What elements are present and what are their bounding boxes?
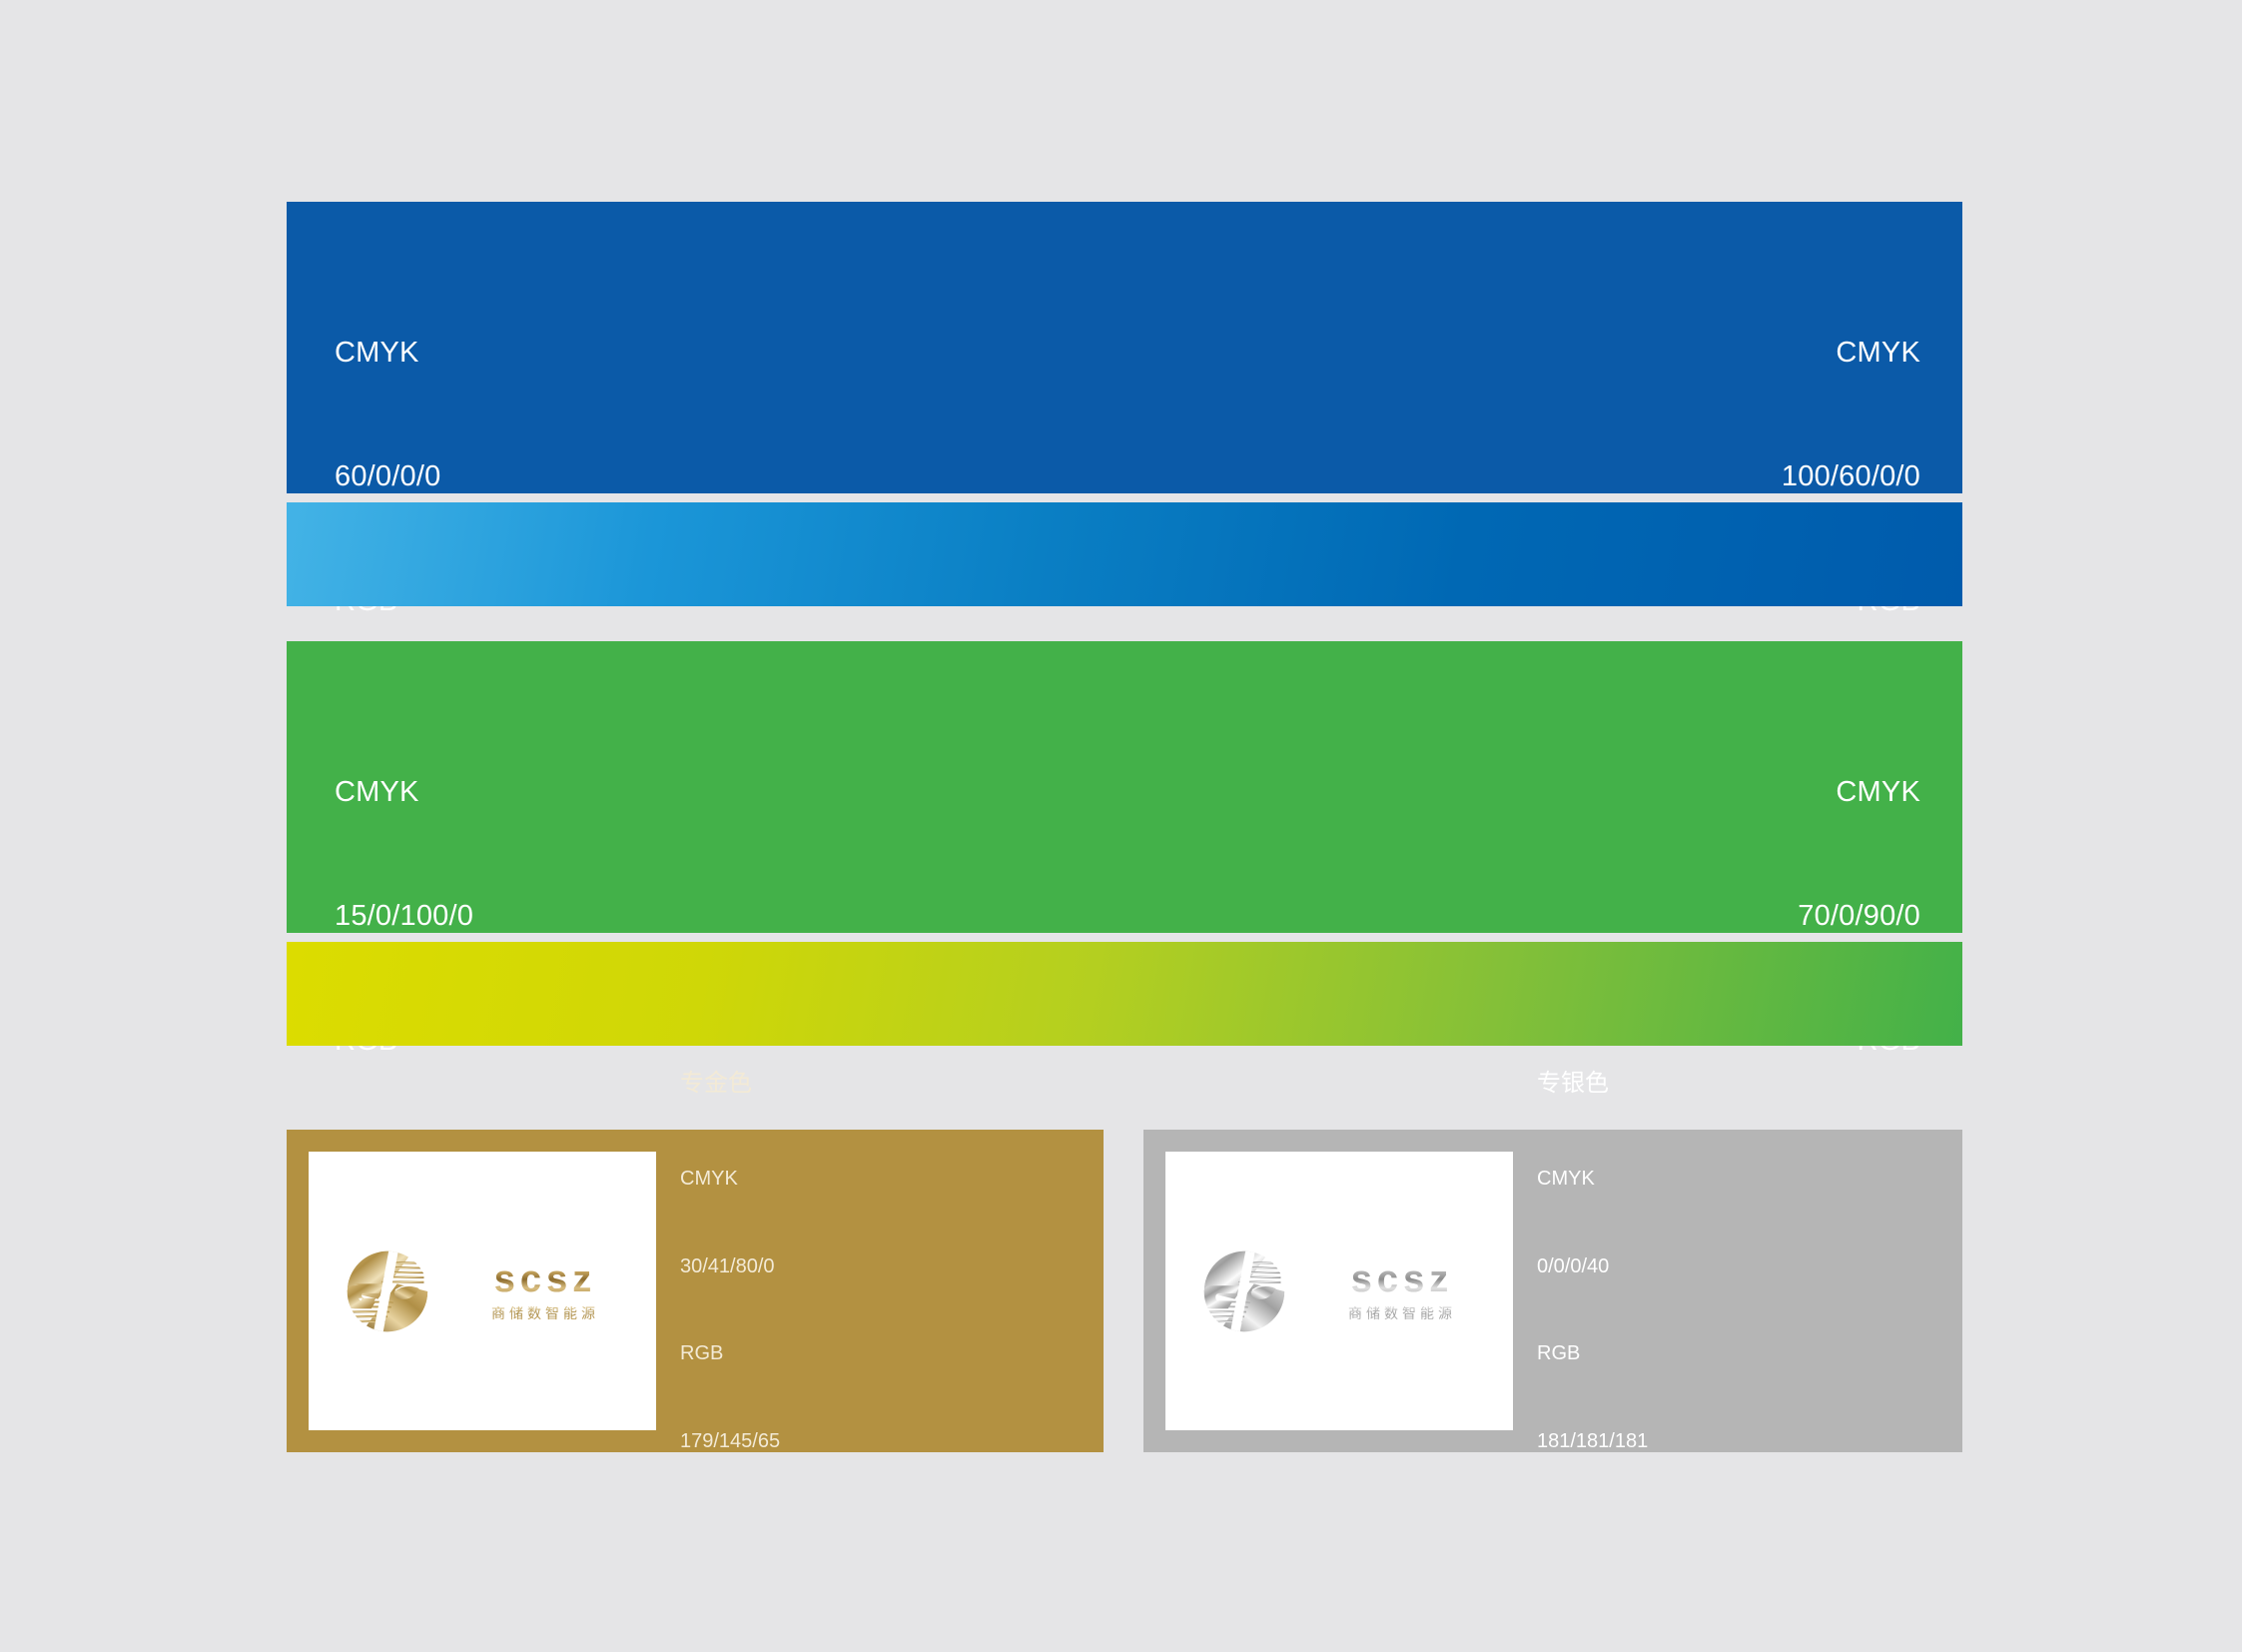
scsz-subtitle: 商储数智能源: [469, 1303, 621, 1323]
scsz-wordmark: scsz: [465, 1258, 625, 1300]
rgb-value: 181/181/181: [1537, 1427, 1648, 1456]
blue-solid-swatch: CMYK 60/0/0/0 RGB 84/195/241 CMYK 100/60…: [287, 202, 1962, 493]
gold-spec-text: 专金色 CMYK 30/41/80/0 RGB 179/145/65: [656, 1152, 780, 1430]
gold-logo-wordmark-group: scsz 商储数智能源: [465, 1258, 625, 1323]
cmyk-label: CMYK: [680, 1165, 780, 1194]
rgb-label: RGB: [680, 1339, 780, 1368]
silver-spot-color-panel: scsz 商储数智能源 专银色: [1143, 1130, 1962, 1452]
rgb-value: 179/145/65: [680, 1427, 780, 1456]
silver-logo-wordmark-group: scsz 商储数智能源: [1322, 1258, 1482, 1323]
brand-color-guideline-page: CMYK 60/0/0/0 RGB 84/195/241 CMYK 100/60…: [0, 0, 2242, 1652]
scsz-wordmark: scsz: [1322, 1258, 1482, 1300]
silver-values: CMYK 0/0/0/40 RGB 181/181/181: [1537, 1107, 1648, 1515]
cmyk-value: 70/0/90/0: [1790, 896, 1920, 937]
gold-title: 专金色: [680, 1068, 780, 1100]
silver-logo-lockup: scsz 商储数智能源: [1196, 1243, 1482, 1339]
silver-logo-card: scsz 商储数智能源: [1165, 1152, 1513, 1430]
green-solid-swatch: CMYK 15/0/100/0 RGB 230/228/0 CMYK 70/0/…: [287, 641, 1962, 933]
scsz-wordmark-text: scsz: [494, 1258, 596, 1300]
cmyk-label: CMYK: [1790, 772, 1920, 813]
blue-gradient-bar: [287, 502, 1962, 606]
cmyk-value: 30/41/80/0: [680, 1252, 780, 1281]
cmyk-value: 100/60/0/0: [1782, 456, 1920, 497]
gold-logo-card: scsz 商储数智能源: [309, 1152, 656, 1430]
gold-spot-color-panel: scsz 商储数智能源 专金色: [287, 1130, 1104, 1452]
scsz-wordmark-text: scsz: [1351, 1258, 1453, 1300]
cmyk-label: CMYK: [1782, 333, 1920, 374]
cmyk-value: 0/0/0/40: [1537, 1252, 1648, 1281]
scsz-circle-mark-icon: [340, 1243, 435, 1339]
cmyk-value: 60/0/0/0: [335, 456, 481, 497]
cmyk-value: 15/0/100/0: [335, 896, 473, 937]
rgb-label: RGB: [1537, 1339, 1648, 1368]
scsz-circle-mark-icon: [1196, 1243, 1292, 1339]
silver-title: 专银色: [1537, 1068, 1648, 1100]
scsz-subtitle: 商储数智能源: [1326, 1303, 1478, 1323]
cmyk-label: CMYK: [335, 772, 473, 813]
green-gradient-bar: [287, 942, 1962, 1046]
scsz-subtitle-text: 商储数智能源: [1348, 1305, 1456, 1321]
gold-logo-lockup: scsz 商储数智能源: [340, 1243, 625, 1339]
cmyk-label: CMYK: [1537, 1165, 1648, 1194]
gold-values: CMYK 30/41/80/0 RGB 179/145/65: [680, 1107, 780, 1515]
scsz-subtitle-text: 商储数智能源: [491, 1305, 599, 1321]
cmyk-label: CMYK: [335, 333, 481, 374]
silver-spec-text: 专银色 CMYK 0/0/0/40 RGB 181/181/181: [1513, 1152, 1648, 1430]
